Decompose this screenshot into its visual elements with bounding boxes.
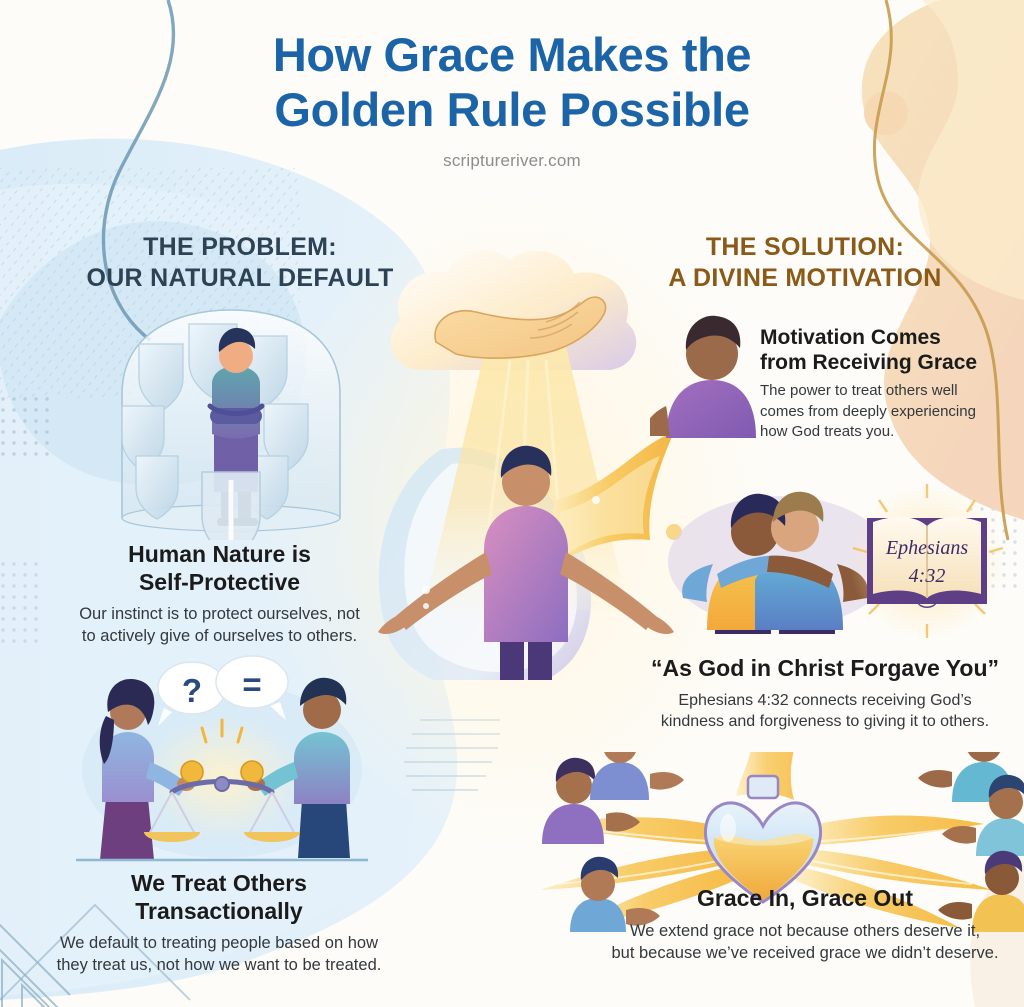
scales-text-block: We Treat Others Transactionally We defau… [30,870,408,977]
grace-text-block: Grace In, Grace Out We extend grace not … [585,885,1024,964]
motivation-body: The power to treat others well comes fro… [760,381,1012,442]
scales-title-line-1: We Treat Others [131,870,307,896]
motivation-person-illustration [650,310,770,440]
ephesians-text-block: “As God in Christ Forgave You” Ephesians… [630,655,1020,733]
right-heading-line-1: THE SOLUTION: [600,232,1010,263]
motivation-body-line-2: comes from deeply experiencing [760,403,976,420]
shield-title-line-1: Human Nature is [128,541,311,567]
page-title: How Grace Makes the Golden Rule Possible [132,28,892,137]
header: How Grace Makes the Golden Rule Possible… [0,28,1024,171]
grace-body-line-2: but because we’ve received grace we didn… [611,944,998,962]
left-heading-line-2: OUR NATURAL DEFAULT [40,263,440,294]
motivation-title-line-2: from Receiving Grace [760,351,977,374]
ephesians-body-line-1: Ephesians 4:32 connects receiving God’s [678,692,971,709]
motivation-body-line-3: how God treats you. [760,423,894,440]
title-line-1: How Grace Makes the [273,28,751,81]
equals-bubble-label: = [242,666,261,703]
book-reference-line-1: Ephesians [885,537,968,559]
shield-text-block: Human Nature is Self-Protective Our inst… [42,541,397,648]
grace-title: Grace In, Grace Out [585,885,1024,913]
motivation-body-line-1: The power to treat others well [760,382,958,399]
ephesians-title: “As God in Christ Forgave You” [630,655,1020,683]
left-heading-line-1: THE PROBLEM: [40,232,440,263]
shield-title: Human Nature is Self-Protective [42,541,397,596]
left-column-heading: THE PROBLEM: OUR NATURAL DEFAULT [40,232,440,293]
right-heading-line-2: A DIVINE MOTIVATION [600,263,1010,294]
book-reference-line-2: 4:32 [909,565,946,587]
divine-hand-beam-illustration [360,250,690,680]
grace-body-line-1: We extend grace not because others deser… [630,922,980,940]
scales-title-line-2: Transactionally [135,898,302,924]
scales-illustration: ? = [62,650,382,872]
title-line-2: Golden Rule Possible [132,83,892,138]
scales-body-line-2: they treat us, not how we want to be tre… [57,956,382,974]
question-bubble-label: ? [182,672,202,709]
scales-body: We default to treating people based on h… [30,932,408,977]
ephesians-body: Ephesians 4:32 connects receiving God’s … [630,690,1020,733]
shield-body: Our instinct is to protect ourselves, no… [42,603,397,648]
shield-dome-illustration [86,296,376,540]
infographic-poster: How Grace Makes the Golden Rule Possible… [0,0,1024,1007]
right-column-heading: THE SOLUTION: A DIVINE MOTIVATION [600,232,1010,293]
scales-title: We Treat Others Transactionally [30,870,408,925]
motivation-title: Motivation Comes from Receiving Grace [760,325,1012,375]
motivation-title-line-1: Motivation Comes [760,326,941,349]
shield-body-line-1: Our instinct is to protect ourselves, no… [79,605,360,623]
shield-title-line-2: Self-Protective [139,569,300,595]
motivation-text-block: Motivation Comes from Receiving Grace Th… [760,325,1012,442]
embrace-and-book-illustration: Ephesians 4:32 [655,478,1005,643]
ephesians-body-line-2: kindness and forgiveness to giving it to… [661,713,989,730]
shield-body-line-2: to actively give of ourselves to others. [82,627,357,645]
site-url: scriptureriver.com [0,151,1024,171]
grace-body: We extend grace not because others deser… [585,920,1024,965]
scales-body-line-1: We default to treating people based on h… [60,934,378,952]
